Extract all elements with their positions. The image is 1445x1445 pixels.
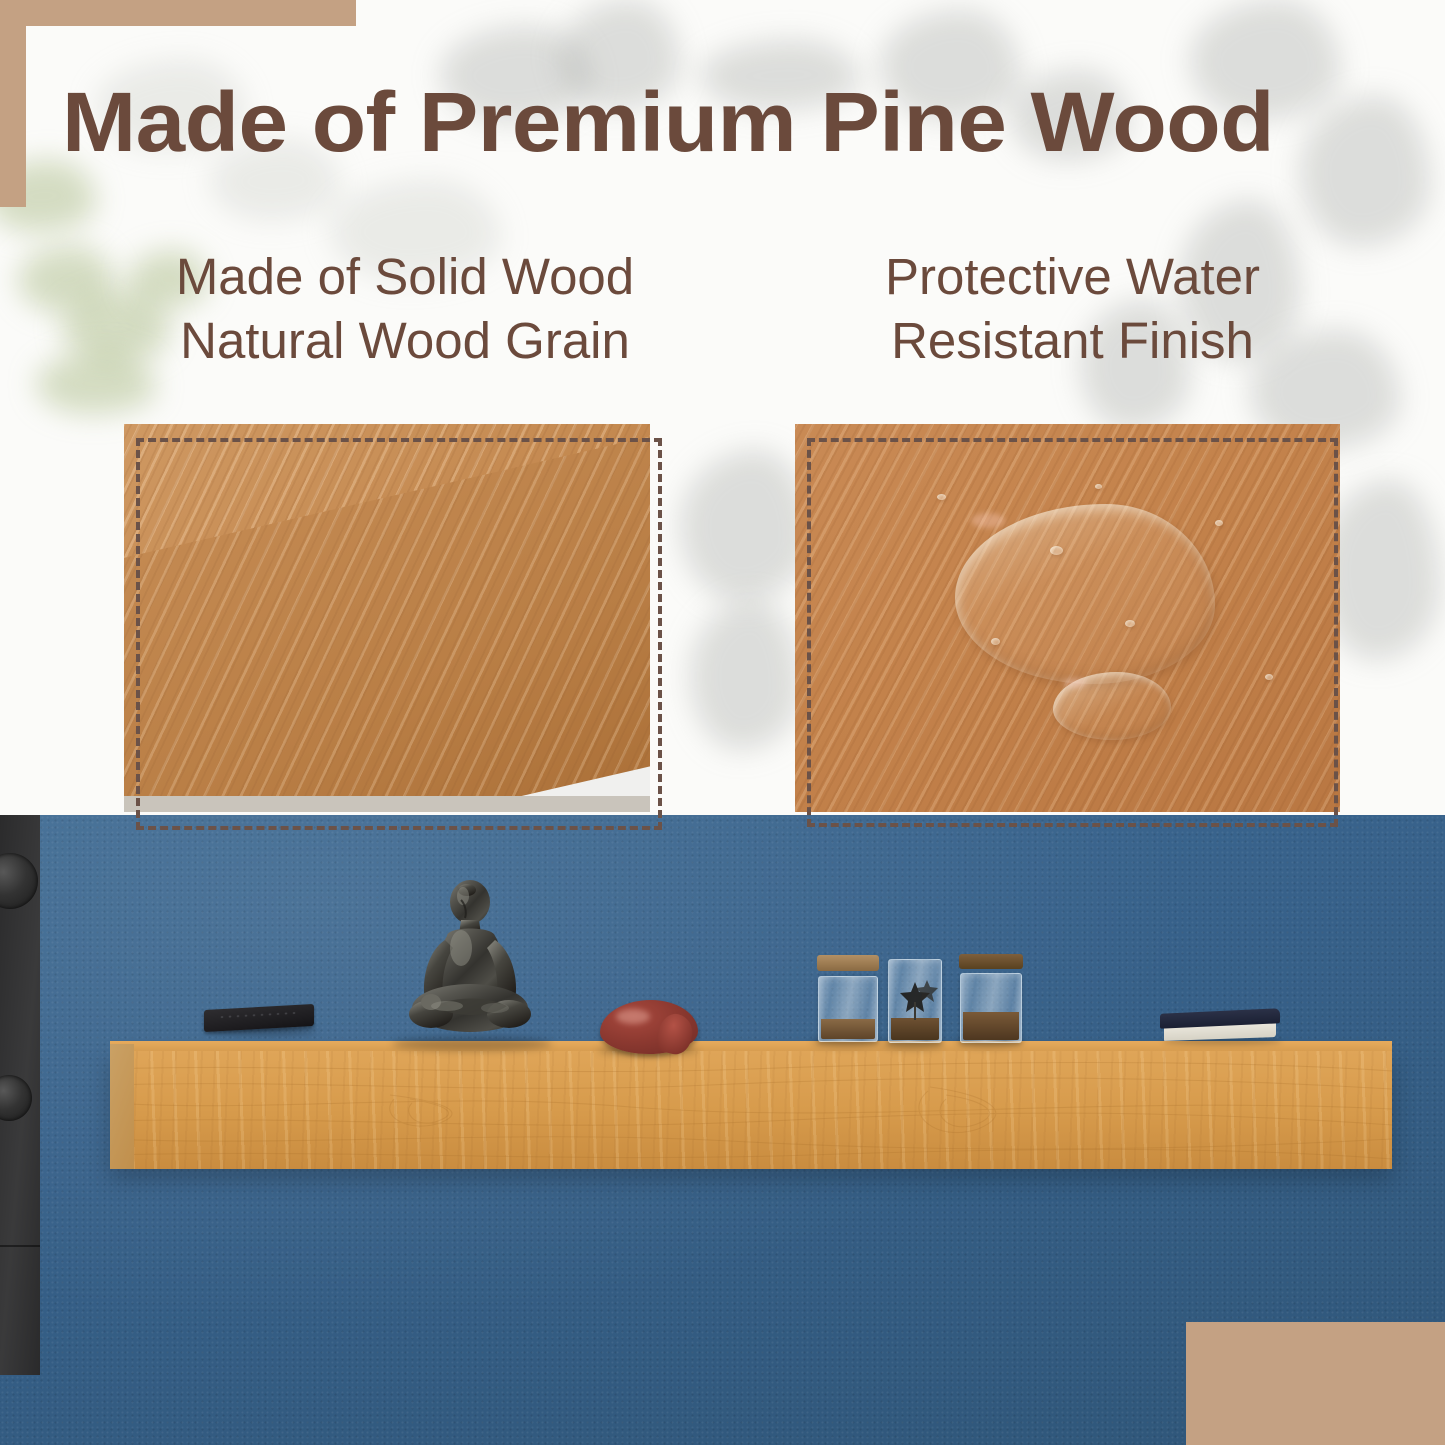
page-title: Made of Premium Pine Wood bbox=[62, 72, 1445, 172]
corner-decoration-top-vertical bbox=[0, 0, 26, 207]
feature-title-line-1: Made of Solid Wood bbox=[120, 245, 690, 309]
glass-candle-jar-1 bbox=[818, 976, 878, 1042]
water-droplet-small bbox=[1095, 484, 1102, 489]
water-droplet-medium bbox=[1053, 672, 1171, 740]
speaker-driver-icon bbox=[0, 1075, 32, 1121]
water-droplet-small bbox=[1215, 520, 1223, 526]
water-droplet-small bbox=[1125, 620, 1135, 627]
feature-image-water-resistant bbox=[795, 424, 1340, 812]
glass-candle-jar-2 bbox=[888, 959, 942, 1043]
water-droplet-small bbox=[937, 494, 946, 500]
jar-driftwood-lid bbox=[817, 955, 879, 971]
speaker-driver-icon bbox=[0, 853, 38, 909]
buddha-figurine bbox=[395, 878, 545, 1048]
star-ornament-icon bbox=[889, 974, 943, 1034]
feature-title-line-2: Natural Wood Grain bbox=[120, 309, 690, 373]
feature-title-line-1: Protective Water bbox=[795, 245, 1350, 309]
water-droplet-small bbox=[1265, 674, 1273, 680]
speaker-tower bbox=[0, 815, 40, 1375]
pebble-highlight bbox=[616, 1009, 650, 1024]
shelf-left-end-cap bbox=[110, 1044, 134, 1169]
jar-bark-lid bbox=[959, 954, 1023, 969]
wood-grain-icon bbox=[110, 1051, 1392, 1169]
droplet-highlight bbox=[1063, 678, 1087, 688]
feature-title-solid-wood: Made of Solid Wood Natural Wood Grain bbox=[120, 245, 690, 373]
water-droplet-large bbox=[955, 504, 1215, 684]
droplet-highlight bbox=[971, 513, 1005, 528]
jar-contents bbox=[963, 1012, 1019, 1040]
foliage-shadow-leaf bbox=[680, 450, 810, 600]
buddha-statue-icon bbox=[395, 878, 545, 1048]
hardcover-book bbox=[1160, 1011, 1280, 1039]
water-droplet-small bbox=[1050, 546, 1063, 555]
infographic-canvas: Made of Premium Pine Wood Made of Solid … bbox=[0, 0, 1445, 1445]
water-droplet-small bbox=[991, 638, 1000, 645]
shelf-front-face bbox=[110, 1051, 1392, 1169]
photo-floor-strip bbox=[124, 796, 650, 812]
feature-image-solid-wood bbox=[124, 424, 650, 812]
foliage-shadow-leaf bbox=[690, 600, 800, 750]
corner-decoration-top-horizontal bbox=[0, 0, 356, 26]
corner-decoration-bottom-right bbox=[1186, 1322, 1445, 1445]
feature-title-water-resistant: Protective Water Resistant Finish bbox=[795, 245, 1350, 373]
glass-candle-jar-3 bbox=[960, 973, 1022, 1043]
jar-contents bbox=[821, 1019, 875, 1039]
red-ceramic-pebble bbox=[600, 1000, 698, 1054]
feature-title-line-2: Resistant Finish bbox=[795, 309, 1350, 373]
